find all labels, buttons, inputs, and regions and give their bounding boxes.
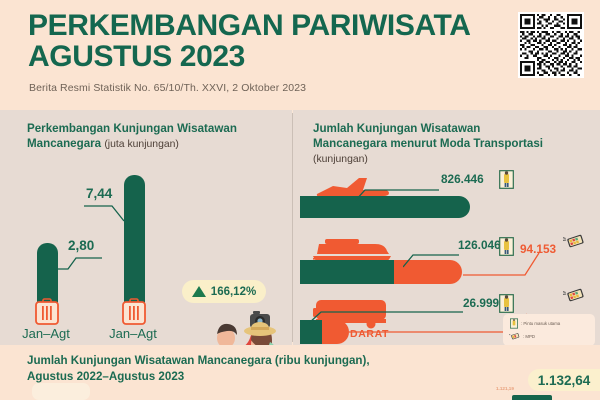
status-badge-highlight: 1.132,64: [528, 369, 600, 391]
bar-value-2023: 7,44: [86, 186, 112, 201]
growth-value: 166,12%: [211, 286, 256, 298]
xlabel-2022-line1: Jan–Agt: [1, 326, 91, 342]
hvalue-laut-green: 126.046: [458, 238, 501, 252]
suitcase-icon-2023: [121, 298, 147, 326]
leader-line-darat-orange: [349, 312, 529, 334]
entry-gate-icon-darat: [499, 294, 514, 313]
left-panel-heading-line1: Perkembangan Kunjungan Wisatawan: [27, 122, 237, 135]
leader-line-2022: [58, 254, 104, 270]
entry-gate-icon-laut: [499, 237, 514, 256]
hvalue-darat-green: 26.999: [463, 296, 499, 310]
suitcase-icon-2022: [34, 298, 60, 326]
entry-gate-icon: [510, 318, 518, 329]
qr-code-icon[interactable]: [518, 12, 584, 78]
legend-item-mpd: : MPD: [509, 332, 535, 341]
header: PERKEMBANGAN PARIWISATA AGUSTUS 2023 Ber…: [0, 0, 600, 110]
mini-bar-bottom: [512, 395, 552, 400]
hbar-laut-green: [300, 260, 394, 284]
panel-kunjungan-bulanan: Jumlah Kunjungan Wisatawan Mancanegara (…: [0, 345, 600, 400]
leader-line-laut-green: [403, 246, 461, 268]
bottom-panel-heading: Jumlah Kunjungan Wisatawan Mancanegara (…: [27, 353, 370, 384]
bottom-panel-heading-line1: Jumlah Kunjungan Wisatawan Mancanegara (…: [27, 354, 370, 367]
page-title-line2: AGUSTUS 2023: [28, 41, 498, 72]
mini-pill-left: [32, 383, 90, 400]
bar-value-2022: 2,80: [68, 238, 94, 253]
bar-jan-agt-2022: [37, 243, 58, 305]
legend-label-mpd: : MPD: [523, 334, 535, 339]
xlabel-2023-line1: Jan–Agt: [88, 326, 178, 342]
left-panel-heading-line2: Mancanegara: [27, 137, 101, 150]
hvalue-udara: 826.446: [441, 172, 484, 186]
page-title-line1: PERKEMBANGAN PARIWISATA: [28, 10, 498, 41]
left-panel-unit: (juta kunjungan): [104, 139, 179, 150]
legend: : Pintu masuk utama : MPD: [503, 314, 595, 346]
right-panel-heading: Jumlah Kunjungan Wisatawan Mancanegara m…: [313, 121, 598, 167]
mpd-phone-icon-darat: [563, 288, 585, 303]
infographic-page: PERKEMBANGAN PARIWISATA AGUSTUS 2023 Ber…: [0, 0, 600, 400]
triangle-up-icon: [192, 286, 206, 297]
leader-line-udara: [355, 180, 441, 202]
bottom-panel-heading-line2: Agustus 2022–Agustus 2023: [27, 370, 184, 383]
panel-moda-transportasi: Jumlah Kunjungan Wisatawan Mancanegara m…: [293, 110, 600, 345]
right-panel-heading-line2: Mancanegara menurut Moda Transportasi: [313, 137, 543, 150]
entry-gate-icon-udara: [499, 170, 514, 189]
mpd-phone-icon: [509, 332, 520, 341]
legend-item-gate: : Pintu masuk utama: [510, 318, 560, 329]
left-panel-heading: Perkembangan Kunjungan Wisatawan Mancane…: [27, 121, 277, 152]
bar-jan-agt-2023: [124, 175, 145, 305]
mpd-phone-icon-laut: [563, 234, 585, 249]
page-subtitle: Berita Resmi Statistik No. 65/10/Th. XXV…: [29, 82, 306, 94]
highlight-value: 1.132,64: [538, 373, 591, 388]
panel-kunjungan-trend: Perkembangan Kunjungan Wisatawan Mancane…: [0, 110, 292, 345]
right-panel-heading-line1: Jumlah Kunjungan Wisatawan: [313, 122, 480, 135]
bottom-partial-label: 1.121,19: [496, 386, 514, 391]
right-panel-unit: (kunjungan): [313, 154, 368, 165]
leader-line-2023: [84, 202, 126, 222]
page-title: PERKEMBANGAN PARIWISATA AGUSTUS 2023: [28, 10, 498, 72]
legend-label-gate: : Pintu masuk utama: [521, 321, 560, 326]
